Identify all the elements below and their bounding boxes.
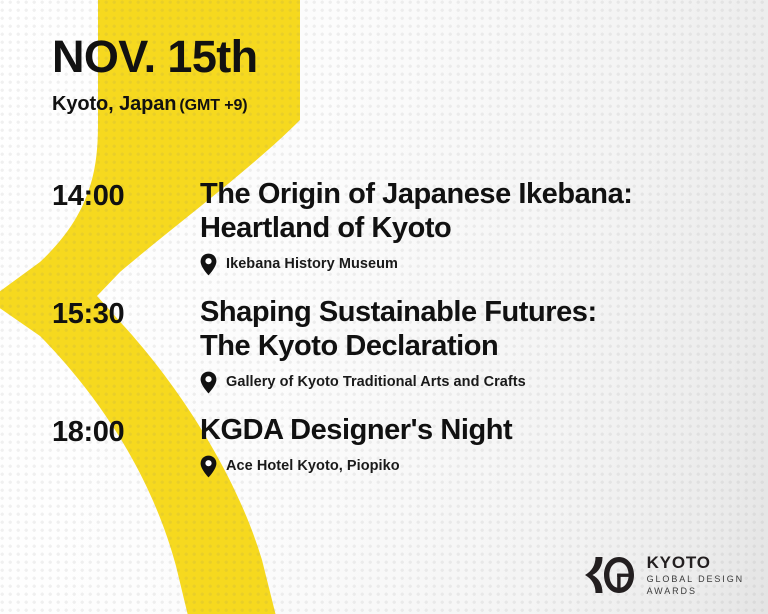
session-title-line-1: The Origin of Japanese Ikebana: [200,178,752,212]
venue-label: Ace Hotel Kyoto, Piopiko [226,458,400,474]
schedule-list: 14:00 The Origin of Japanese Ikebana: He… [52,178,752,478]
session-venue: Gallery of Kyoto Traditional Arts and Cr… [200,371,752,394]
list-item[interactable]: 15:30 Shaping Sustainable Futures: The K… [52,296,752,394]
session-body: Shaping Sustainable Futures: The Kyoto D… [200,296,752,394]
location-timezone-line: Kyoto, Japan(GMT +9) [52,93,258,116]
session-title: The Origin of Japanese Ikebana: Heartlan… [200,178,752,246]
venue-label: Gallery of Kyoto Traditional Arts and Cr… [226,374,526,390]
page-title: NOV. 15th [52,34,258,79]
logo-line-awards: AWARDS [647,587,744,596]
session-title-line-1: Shaping Sustainable Futures: [200,296,752,330]
venue-label: Ikebana History Museum [226,256,398,272]
list-item[interactable]: 14:00 The Origin of Japanese Ikebana: He… [52,178,752,276]
session-body: KGDA Designer's Night Ace Hotel Kyoto, P… [200,414,752,478]
kgda-monogram-icon [583,555,637,595]
session-title-line-1: KGDA Designer's Night [200,414,752,448]
session-venue: Ikebana History Museum [200,253,752,276]
session-title: KGDA Designer's Night [200,414,752,448]
kgda-logo: KYOTO GLOBAL DESIGN AWARDS [583,554,744,596]
map-pin-icon [200,253,217,276]
map-pin-icon [200,455,217,478]
list-item[interactable]: 18:00 KGDA Designer's Night Ace Hotel Ky… [52,414,752,478]
session-time: 18:00 [52,414,200,448]
logo-wordmark: KYOTO GLOBAL DESIGN AWARDS [647,554,744,596]
logo-line-kyoto: KYOTO [647,554,744,571]
session-time: 14:00 [52,178,200,212]
session-venue: Ace Hotel Kyoto, Piopiko [200,455,752,478]
logo-line-global-design: GLOBAL DESIGN [647,575,744,584]
session-title: Shaping Sustainable Futures: The Kyoto D… [200,296,752,364]
session-time: 15:30 [52,296,200,330]
timezone-label: (GMT +9) [179,97,247,114]
map-pin-icon [200,371,217,394]
poster-header: NOV. 15th Kyoto, Japan(GMT +9) [52,34,258,116]
session-title-line-2: The Kyoto Declaration [200,330,752,364]
session-title-line-2: Heartland of Kyoto [200,212,752,246]
city-label: Kyoto, Japan [52,93,176,115]
event-schedule-poster: NOV. 15th Kyoto, Japan(GMT +9) 14:00 The… [0,0,768,614]
session-body: The Origin of Japanese Ikebana: Heartlan… [200,178,752,276]
